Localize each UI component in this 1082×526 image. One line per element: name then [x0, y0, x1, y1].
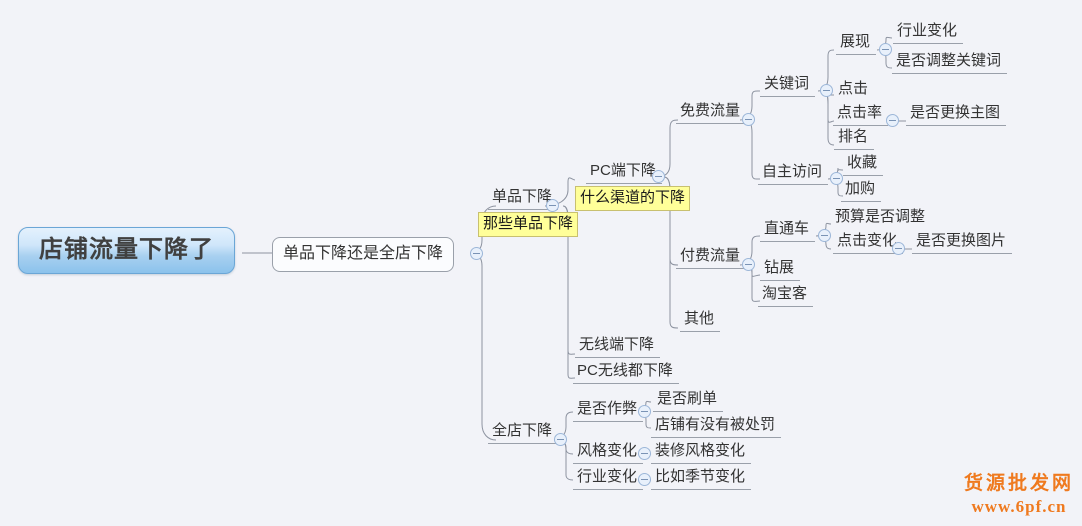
watermark: 货源批发网 www.6pf.cn — [964, 472, 1074, 518]
mindmap-node-is-cheating[interactable]: 是否作弊 — [573, 398, 643, 422]
mindmap-node-pc-and-wireless-drop[interactable]: PC无线都下降 — [573, 360, 679, 384]
mindmap-node-self-visit[interactable]: 自主访问 — [758, 161, 828, 185]
collapse-toggle-icon[interactable] — [470, 247, 483, 260]
mindmap-node-other-traffic[interactable]: 其他 — [680, 308, 720, 332]
collapse-toggle-icon[interactable] — [818, 229, 831, 242]
mindmap-node-keyword[interactable]: 关键词 — [760, 73, 815, 97]
collapse-toggle-icon[interactable] — [554, 433, 567, 446]
mindmap-canvas: 店铺流量下降了 单品下降还是全店下降 单品下降 那些单品下降 PC端下降 什么渠… — [0, 0, 1082, 526]
mindmap-node-fake-orders[interactable]: 是否刷单 — [653, 388, 723, 412]
mindmap-node-store-penalized[interactable]: 店铺有没有被处罚 — [651, 414, 781, 438]
mindmap-node-decoration-style-change[interactable]: 装修风格变化 — [651, 440, 751, 464]
watermark-site-name: 货源批发网 — [964, 472, 1074, 496]
mindmap-node-which-channel-drop[interactable]: 什么渠道的下降 — [575, 186, 690, 211]
collapse-toggle-icon[interactable] — [546, 199, 559, 212]
mindmap-node-which-items-drop[interactable]: 那些单品下降 — [478, 212, 578, 237]
watermark-url: www.6pf.cn — [964, 496, 1074, 518]
mindmap-node-ranking[interactable]: 排名 — [834, 126, 874, 150]
mindmap-node-wireless-drop[interactable]: 无线端下降 — [575, 334, 660, 358]
mindmap-node-favorite[interactable]: 收藏 — [843, 152, 883, 176]
mindmap-node-style-change[interactable]: 风格变化 — [573, 440, 643, 464]
mindmap-node-industry-change-top[interactable]: 行业变化 — [893, 20, 963, 44]
mindmap-node-budget-adjust[interactable]: 预算是否调整 — [831, 206, 931, 229]
collapse-toggle-icon[interactable] — [638, 447, 651, 460]
collapse-toggle-icon[interactable] — [638, 405, 651, 418]
collapse-toggle-icon[interactable] — [820, 84, 833, 97]
mindmap-node-adjust-keywords[interactable]: 是否调整关键词 — [892, 50, 1007, 74]
mindmap-node-seasonal-change[interactable]: 比如季节变化 — [651, 466, 751, 490]
collapse-toggle-icon[interactable] — [892, 242, 905, 255]
mindmap-node-zhitongche[interactable]: 直通车 — [760, 218, 815, 242]
mindmap-node-change-image[interactable]: 是否更换图片 — [912, 230, 1012, 254]
mindmap-node-zuanzhan[interactable]: 钻展 — [760, 257, 800, 281]
mindmap-node-clicks[interactable]: 点击 — [834, 78, 874, 101]
mindmap-node-industry-change-bottom[interactable]: 行业变化 — [573, 466, 643, 490]
mindmap-node-impression[interactable]: 展现 — [836, 31, 876, 55]
collapse-toggle-icon[interactable] — [638, 473, 651, 486]
mindmap-node-add-to-cart[interactable]: 加购 — [841, 178, 881, 202]
mindmap-node-whole-store-drop[interactable]: 全店下降 — [488, 420, 558, 444]
mindmap-node-pc-drop[interactable]: PC端下降 — [586, 160, 662, 184]
collapse-toggle-icon[interactable] — [652, 170, 665, 183]
mindmap-node-paid-traffic[interactable]: 付费流量 — [676, 245, 746, 269]
mindmap-node-ctr[interactable]: 点击率 — [833, 102, 888, 126]
collapse-toggle-icon[interactable] — [742, 113, 755, 126]
mindmap-node-single-or-whole[interactable]: 单品下降还是全店下降 — [272, 237, 454, 272]
mindmap-root-node[interactable]: 店铺流量下降了 — [18, 227, 235, 274]
link-q1-whole — [470, 253, 496, 440]
mindmap-node-free-traffic[interactable]: 免费流量 — [676, 100, 746, 124]
collapse-toggle-icon[interactable] — [742, 258, 755, 271]
mindmap-node-change-main-image[interactable]: 是否更换主图 — [906, 102, 1006, 126]
link-whole-industry2 — [560, 440, 573, 480]
collapse-toggle-icon[interactable] — [886, 114, 899, 127]
mindmap-node-taobaoke[interactable]: 淘宝客 — [758, 283, 813, 307]
collapse-toggle-icon[interactable] — [879, 43, 892, 56]
